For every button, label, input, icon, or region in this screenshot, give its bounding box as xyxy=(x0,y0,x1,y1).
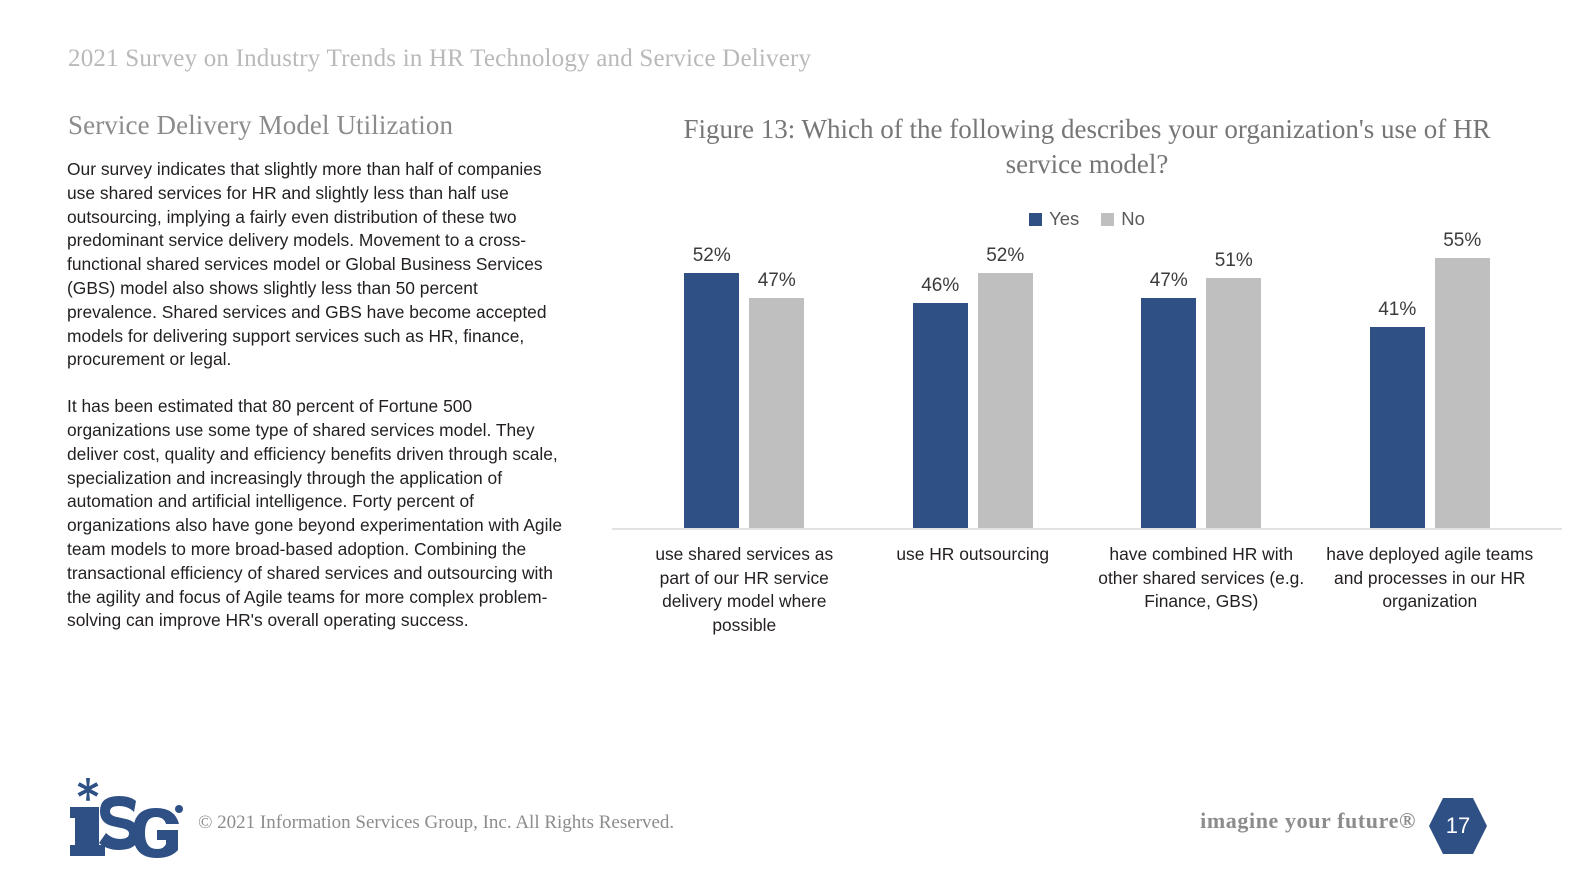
page-number-badge: 17 xyxy=(1428,796,1488,856)
bar-value-label: 52% xyxy=(986,245,1024,267)
bar-group: 47%51% xyxy=(1087,236,1316,528)
bar-group: 46%52% xyxy=(859,236,1088,528)
page-number-label: 17 xyxy=(1428,796,1488,856)
bar-no[interactable] xyxy=(1206,278,1261,528)
bar-yes[interactable] xyxy=(1141,298,1196,528)
bar-value-label: 47% xyxy=(758,270,796,292)
bar-column-no: 51% xyxy=(1206,236,1261,528)
bar-yes[interactable] xyxy=(1370,327,1425,528)
tagline-text: imagine your future® xyxy=(1200,808,1416,834)
slide-page: 2021 Survey on Industry Trends in HR Tec… xyxy=(0,0,1584,891)
legend-swatch-yes xyxy=(1029,213,1042,226)
chart-category-labels: use shared services as part of our HR se… xyxy=(612,543,1562,637)
chart-plot-area: 52%47%46%52%47%51%41%55% xyxy=(612,236,1562,530)
isg-logo xyxy=(66,776,186,860)
bar-yes[interactable] xyxy=(684,273,739,528)
chart-title: Figure 13: Which of the following descri… xyxy=(612,112,1562,182)
bar-value-label: 46% xyxy=(921,275,959,297)
chart-legend: Yes No xyxy=(612,208,1562,230)
category-label: use HR outsourcing xyxy=(859,543,1088,637)
legend-label-no: No xyxy=(1121,208,1145,230)
category-label: have combined HR with other shared servi… xyxy=(1087,543,1316,637)
legend-item-yes[interactable]: Yes xyxy=(1029,208,1079,230)
bar-value-label: 51% xyxy=(1215,250,1253,272)
bar-column-yes: 41% xyxy=(1370,236,1425,528)
copyright-text: © 2021 Information Services Group, Inc. … xyxy=(198,812,674,834)
bar-column-yes: 52% xyxy=(684,236,739,528)
body-paragraph-2: It has been estimated that 80 percent of… xyxy=(67,395,567,633)
bar-column-no: 55% xyxy=(1435,236,1490,528)
bar-column-yes: 46% xyxy=(913,236,968,528)
body-paragraph-1: Our survey indicates that slightly more … xyxy=(67,158,567,372)
legend-label-yes: Yes xyxy=(1049,208,1079,230)
section-title: Service Delivery Model Utilization xyxy=(68,110,453,141)
figure-13-chart: Figure 13: Which of the following descri… xyxy=(612,112,1562,642)
bar-yes[interactable] xyxy=(913,303,968,528)
legend-item-no[interactable]: No xyxy=(1101,208,1145,230)
category-label: have deployed agile teams and processes … xyxy=(1316,543,1545,637)
bar-value-label: 41% xyxy=(1378,299,1416,321)
bar-group: 52%47% xyxy=(630,236,859,528)
chart-bar-groups: 52%47%46%52%47%51%41%55% xyxy=(630,236,1544,528)
bar-value-label: 47% xyxy=(1150,270,1188,292)
bar-group: 41%55% xyxy=(1316,236,1545,528)
bar-column-no: 47% xyxy=(749,236,804,528)
category-label: use shared services as part of our HR se… xyxy=(630,543,859,637)
body-text-column: Our survey indicates that slightly more … xyxy=(67,158,567,633)
bar-value-label: 52% xyxy=(693,245,731,267)
bar-column-no: 52% xyxy=(978,236,1033,528)
bar-value-label: 55% xyxy=(1443,230,1481,252)
bar-no[interactable] xyxy=(749,298,804,528)
bar-column-yes: 47% xyxy=(1141,236,1196,528)
document-header-title: 2021 Survey on Industry Trends in HR Tec… xyxy=(68,45,811,73)
bar-no[interactable] xyxy=(978,273,1033,528)
legend-swatch-no xyxy=(1101,213,1114,226)
bar-no[interactable] xyxy=(1435,258,1490,528)
